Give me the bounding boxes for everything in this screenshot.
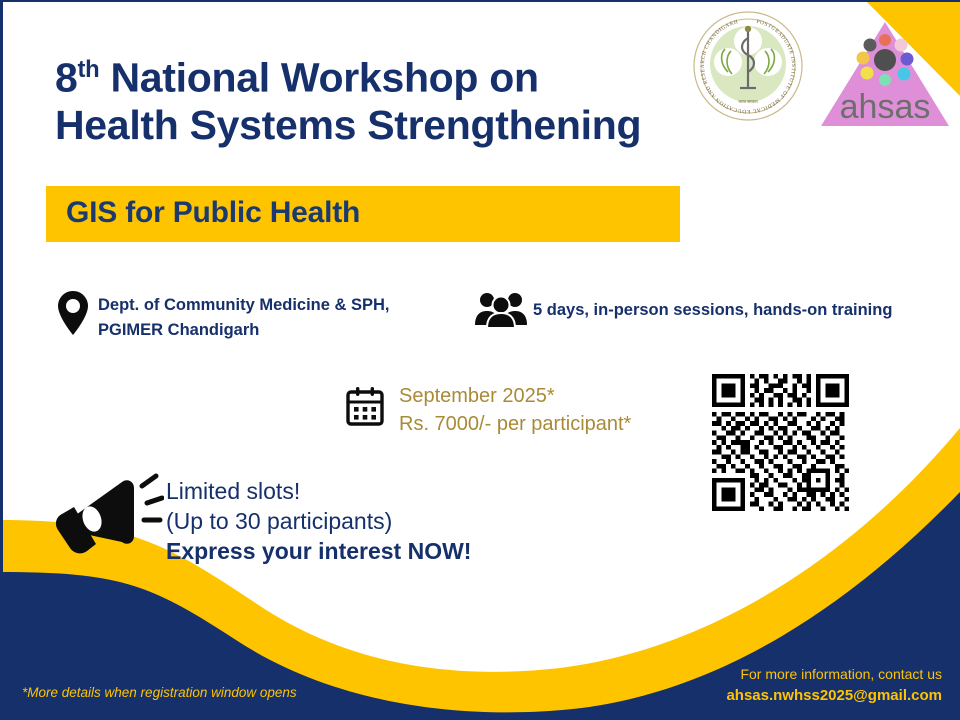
footer-contact: For more information, contact us ahsas.n… [726, 664, 942, 706]
date-fee-text: September 2025* Rs. 7000/- per participa… [399, 382, 631, 438]
people-group-icon [474, 292, 528, 328]
svg-text:ahsas: ahsas [840, 88, 931, 126]
subtitle-text: GIS for Public Health [66, 196, 360, 230]
megaphone-icon [52, 470, 164, 568]
venue-line2: PGIMER Chandigarh [98, 321, 259, 339]
location-pin-icon [56, 290, 90, 336]
poster-canvas: 8th National Workshop on Health Systems … [0, 0, 960, 720]
slots-cta: Express your interest NOW! [166, 538, 471, 564]
duration-text: 5 days, in-person sessions, hands-on tra… [533, 301, 892, 320]
slots-line2: (Up to 30 participants) [166, 508, 392, 534]
page-title: 8th National Workshop on Health Systems … [55, 46, 641, 149]
border-top [0, 0, 960, 2]
slots-line1: Limited slots! [166, 478, 300, 504]
contact-label: For more information, contact us [740, 666, 942, 682]
title-ordinal: 8 [55, 55, 78, 101]
footer-note: *More details when registration window o… [22, 685, 297, 700]
calendar-icon [346, 386, 384, 426]
workshop-fee: Rs. 7000/- per participant* [399, 413, 631, 435]
slots-text: Limited slots! (Up to 30 participants) E… [166, 476, 471, 566]
workshop-date: September 2025* [399, 385, 555, 407]
qr-code[interactable] [712, 372, 849, 513]
venue-text: Dept. of Community Medicine & SPH, PGIME… [98, 293, 390, 343]
border-left [0, 0, 3, 720]
pgimer-logo: भारत सरकार POSTGRADUATE INSTITUTE OF MED… [692, 10, 804, 122]
svg-text:भारत सरकार: भारत सरकार [738, 99, 758, 104]
title-ordinal-suffix: th [78, 56, 100, 83]
ahsas-logo: ahsas [818, 18, 952, 130]
venue-line1: Dept. of Community Medicine & SPH, [98, 296, 390, 314]
title-line1-rest: National Workshop on [99, 55, 538, 101]
title-line2: Health Systems Strengthening [55, 102, 641, 148]
contact-email[interactable]: ahsas.nwhss2025@gmail.com [726, 687, 942, 704]
